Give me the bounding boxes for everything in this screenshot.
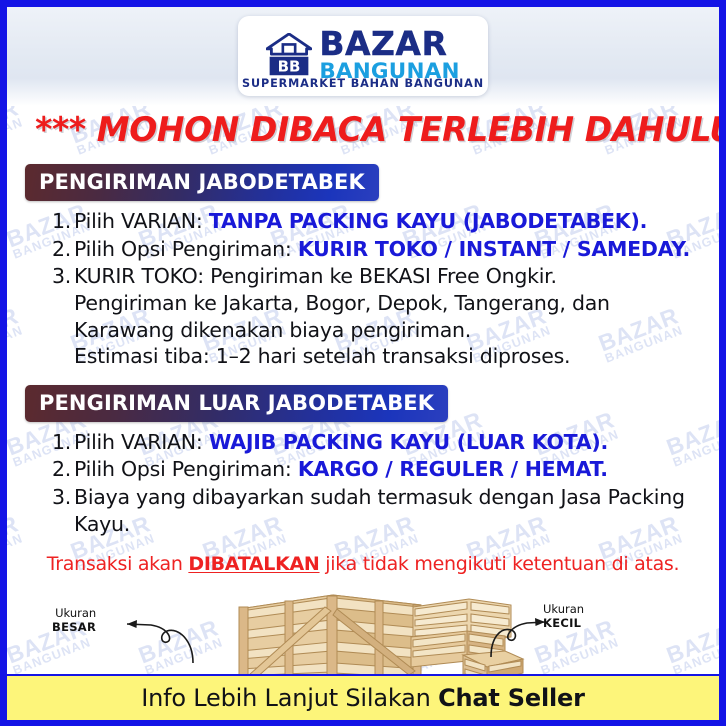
banner-sheet: BAZARBANGUNANBAZARBANGUNANBAZARBANGUNANB… <box>7 7 719 720</box>
rule-text: Pilih VARIAN: <box>74 430 209 454</box>
arrow-to-large-crate-icon <box>115 611 199 667</box>
rule-text: Pilih VARIAN: <box>74 209 209 233</box>
large-crate-photo <box>229 587 429 687</box>
rule-highlight: TANPA PACKING KAYU (JABODETABEK). <box>209 209 647 233</box>
rule-text: Pilih Opsi Pengiriman: <box>74 457 298 481</box>
rule-text: Biaya yang dibayarkan sudah termasuk den… <box>74 485 685 536</box>
brand-logo-card: BB BAZAR BANGUNAN SUPERMARKET BAHAN BANG… <box>238 16 488 96</box>
sections-host: PENGIRIMAN JABODETABEK1.Pilih VARIAN: TA… <box>25 150 701 537</box>
brand-tagline: SUPERMARKET BAHAN BANGUNAN <box>238 77 488 90</box>
footer-before: Info Lebih Lanjut Silakan <box>141 684 438 712</box>
promo-banner: BAZARBANGUNANBAZARBANGUNANBAZARBANGUNANB… <box>0 0 726 726</box>
rule-item: 2.Pilih Opsi Pengiriman: KARGO / REGULER… <box>47 456 701 483</box>
section-heading: PENGIRIMAN JABODETABEK <box>25 164 379 201</box>
rule-text: Estimasi tiba: 1–2 hari setelah transaks… <box>74 343 701 370</box>
annotation-besar-big: BESAR <box>52 621 96 635</box>
rule-item: 2.Pilih Opsi Pengiriman: KURIR TOKO / IN… <box>47 236 701 263</box>
svg-text:BB: BB <box>278 58 301 76</box>
rule-number: 2. <box>47 236 71 263</box>
section-heading: PENGIRIMAN LUAR JABODETABEK <box>25 385 448 422</box>
page-title: *** MOHON DIBACA TERLEBIH DAHULU *** <box>35 110 691 150</box>
footer-cta-bar[interactable]: Info Lebih Lanjut Silakan Chat Seller <box>7 674 719 720</box>
brand-name-top: BAZAR <box>319 27 459 60</box>
warning-emphasis: DIBATALKAN <box>188 553 319 575</box>
warning-before: Transaksi akan <box>47 553 189 575</box>
rule-highlight: KARGO / REGULER / HEMAT. <box>298 457 608 481</box>
rule-number: 1. <box>47 429 71 456</box>
header-band: BB BAZAR BANGUNAN SUPERMARKET BAHAN BANG… <box>7 7 719 106</box>
rule-highlight: KURIR TOKO / INSTANT / SAMEDAY. <box>298 237 690 261</box>
rule-number: 3. <box>47 484 71 511</box>
annotation-besar: Ukuran BESAR <box>52 607 96 635</box>
rule-number: 1. <box>47 208 71 235</box>
footer-cta-text: Info Lebih Lanjut Silakan Chat Seller <box>141 684 584 712</box>
rules-list: 1.Pilih VARIAN: WAJIB PACKING KAYU (LUAR… <box>25 429 701 538</box>
arrow-to-small-crate-icon <box>487 601 555 663</box>
rule-item: 1.Pilih VARIAN: TANPA PACKING KAYU (JABO… <box>47 208 701 235</box>
cancellation-warning: Transaksi akan DIBATALKAN jika tidak men… <box>25 553 701 575</box>
rule-text: KURIR TOKO: Pengiriman ke BEKASI Free On… <box>74 264 557 288</box>
rule-item: 3.KURIR TOKO: Pengiriman ke BEKASI Free … <box>47 263 701 370</box>
rule-text: Pengiriman ke Jakarta, Bogor, Depok, Tan… <box>74 290 701 343</box>
rule-number: 2. <box>47 456 71 483</box>
content-area: *** MOHON DIBACA TERLEBIH DAHULU *** PEN… <box>7 110 719 575</box>
rule-highlight: WAJIB PACKING KAYU (LUAR KOTA). <box>209 430 608 454</box>
house-with-bb-icon: BB <box>266 33 312 77</box>
rule-item: 1.Pilih VARIAN: WAJIB PACKING KAYU (LUAR… <box>47 429 701 456</box>
annotation-besar-small: Ukuran <box>55 606 96 620</box>
footer-emphasis: Chat Seller <box>438 684 585 712</box>
rules-list: 1.Pilih VARIAN: TANPA PACKING KAYU (JABO… <box>25 208 701 370</box>
warning-after: jika tidak mengikuti ketentuan di atas. <box>320 553 680 575</box>
rule-item: 3.Biaya yang dibayarkan sudah termasuk d… <box>47 484 701 537</box>
rule-text: Pilih Opsi Pengiriman: <box>74 237 298 261</box>
rule-number: 3. <box>47 263 71 290</box>
